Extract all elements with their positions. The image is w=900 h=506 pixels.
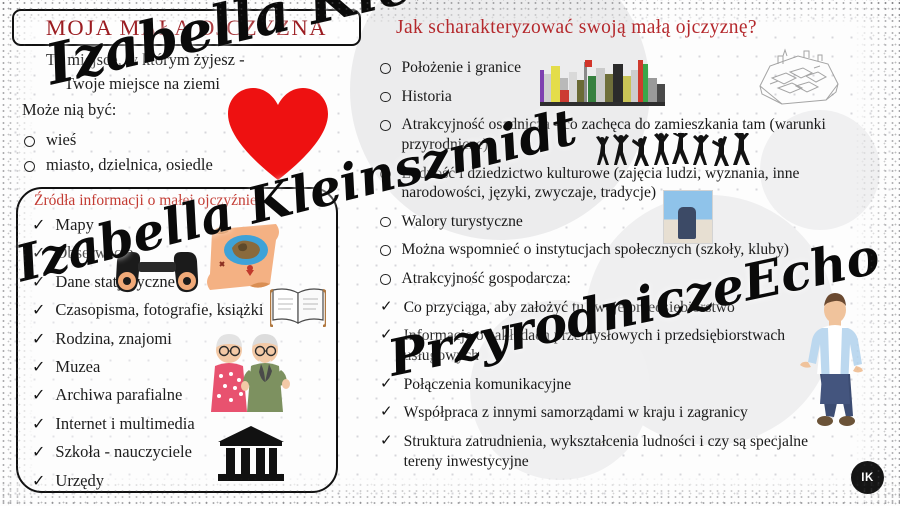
- circle-bullet-icon: [24, 161, 35, 172]
- list-item: ✓ Obserwacje: [32, 243, 322, 271]
- circle-bullet-icon: [380, 120, 391, 131]
- check-icon: ✓: [32, 474, 45, 490]
- check-icon: ✓: [32, 388, 45, 404]
- circle-bullet-icon: [380, 274, 391, 285]
- list-item: Ludność i dziedzictwo kulturowe (zajęcia…: [380, 164, 850, 203]
- check-icon: ✓: [380, 377, 393, 392]
- list-item: ✓ Struktura zatrudnienia, wykształcenia …: [380, 432, 850, 471]
- list-item: Walory turystyczne: [380, 212, 850, 232]
- list-item-label: Ludność i dziedzictwo kulturowe (zajęcia…: [402, 164, 851, 203]
- check-icon: ✓: [32, 445, 45, 461]
- list-item-label: wieś: [46, 130, 76, 150]
- list-item: ✓ Co przyciąga, aby założyć tu swoje prz…: [380, 298, 850, 318]
- slide-canvas: MOJA MAŁA OJCZYZNA To miejsce, w którym …: [0, 0, 900, 506]
- list-item-label: miasto, dzielnica, osiedle: [46, 155, 213, 175]
- list-item-label: Walory turystyczne: [402, 212, 851, 232]
- list-item: ✓ Internet i multimedia: [32, 414, 322, 442]
- check-icon: ✓: [380, 300, 393, 315]
- circle-bullet-icon: [380, 169, 391, 180]
- list-item: wieś: [24, 130, 76, 150]
- author-badge: IK: [851, 461, 884, 494]
- list-item-label: Czasopisma, fotografie, książki: [55, 300, 263, 320]
- heart-icon: [226, 86, 330, 182]
- lead-line-2: Twoje miejsce na ziemi: [64, 72, 220, 95]
- list-item-label: Co przyciąga, aby założyć tu swoje przed…: [404, 298, 850, 318]
- list-item: ✓ Współpraca z innymi samorządami w kraj…: [380, 403, 850, 423]
- list-item-label: Mapy: [55, 215, 94, 235]
- paper-grain-edge: [854, 0, 900, 506]
- list-item-label: Można wspomnieć o instytucjach społeczny…: [402, 240, 851, 260]
- circle-bullet-icon: [380, 92, 391, 103]
- list-item-label: Internet i multimedia: [55, 414, 194, 434]
- list-item-label: Historia: [402, 87, 851, 107]
- list-item-label: Urzędy: [55, 471, 104, 491]
- check-icon: ✓: [32, 303, 45, 319]
- circle-bullet-icon: [380, 63, 391, 74]
- check-icon: ✓: [32, 360, 45, 376]
- check-icon: ✓: [32, 275, 45, 291]
- check-icon: ✓: [32, 246, 45, 262]
- list-item-label: Dane statystyczne: [55, 272, 175, 292]
- list-item-label: Szkoła - nauczyciele: [55, 442, 192, 462]
- lead-line-1: To miejsce, w którym żyjesz -: [46, 48, 245, 71]
- list-item-label: Połączenia komunikacyjne: [404, 375, 850, 395]
- options-label: Może nią być:: [22, 98, 116, 121]
- list-item: ✓ Muzea: [32, 357, 322, 385]
- slide-title-box: MOJA MAŁA OJCZYZNA: [12, 9, 361, 46]
- list-item: Położenie i granice: [380, 58, 850, 78]
- list-item-label: Współpraca z innymi samorządami w kraju …: [404, 403, 850, 423]
- sources-list: ✓ Mapy ✓ Obserwacje ✓ Dane statystyczne …: [32, 215, 322, 499]
- list-item-label: Atrakcyjność osadnicza - co zachęca do z…: [402, 115, 851, 154]
- check-icon: ✓: [32, 332, 45, 348]
- sources-heading: Źródła informacji o małej ojczyźnie:: [34, 192, 261, 210]
- list-item-label: Atrakcyjność gospodarcza:: [402, 269, 851, 289]
- list-item-label: Archiwa parafialne: [55, 385, 182, 405]
- list-item-label: Informacje o zakładach przemysłowych i p…: [404, 326, 850, 365]
- check-icon: ✓: [32, 218, 45, 234]
- right-column-heading: Jak scharakteryzować swoją małą ojczyznę…: [396, 17, 757, 39]
- list-item: miasto, dzielnica, osiedle: [24, 155, 213, 175]
- list-item: Można wspomnieć o instytucjach społeczny…: [380, 240, 850, 260]
- circle-bullet-icon: [24, 136, 35, 147]
- list-item: ✓ Dane statystyczne: [32, 272, 322, 300]
- circle-bullet-icon: [380, 245, 391, 256]
- list-item: ✓ Archiwa parafialne: [32, 385, 322, 413]
- check-icon: ✓: [32, 417, 45, 433]
- list-item: ✓ Szkoła - nauczyciele: [32, 442, 322, 470]
- list-item: Historia: [380, 87, 850, 107]
- list-item-label: Struktura zatrudnienia, wykształcenia lu…: [404, 432, 850, 471]
- characteristics-list: Położenie i granice Historia Atrakcyjnoś…: [380, 58, 850, 471]
- list-item: ✓ Czasopisma, fotografie, książki: [32, 300, 322, 328]
- list-item: ✓ Rodzina, znajomi: [32, 329, 322, 357]
- list-item-label: Muzea: [55, 357, 100, 377]
- list-item: ✓ Informacje o zakładach przemysłowych i…: [380, 326, 850, 365]
- page-title: MOJA MAŁA OJCZYZNA: [46, 15, 327, 41]
- list-item: ✓ Urzędy: [32, 471, 322, 499]
- list-item: Atrakcyjność gospodarcza:: [380, 269, 850, 289]
- list-item-label: Położenie i granice: [402, 58, 851, 78]
- circle-bullet-icon: [380, 217, 391, 228]
- list-item-label: Rodzina, znajomi: [55, 329, 171, 349]
- list-item: ✓ Mapy: [32, 215, 322, 243]
- list-item-label: Obserwacje: [55, 243, 133, 263]
- list-item: ✓ Połączenia komunikacyjne: [380, 375, 850, 395]
- check-icon: ✓: [380, 405, 393, 420]
- list-item: Atrakcyjność osadnicza - co zachęca do z…: [380, 115, 850, 154]
- check-icon: ✓: [380, 434, 393, 449]
- check-icon: ✓: [380, 328, 393, 343]
